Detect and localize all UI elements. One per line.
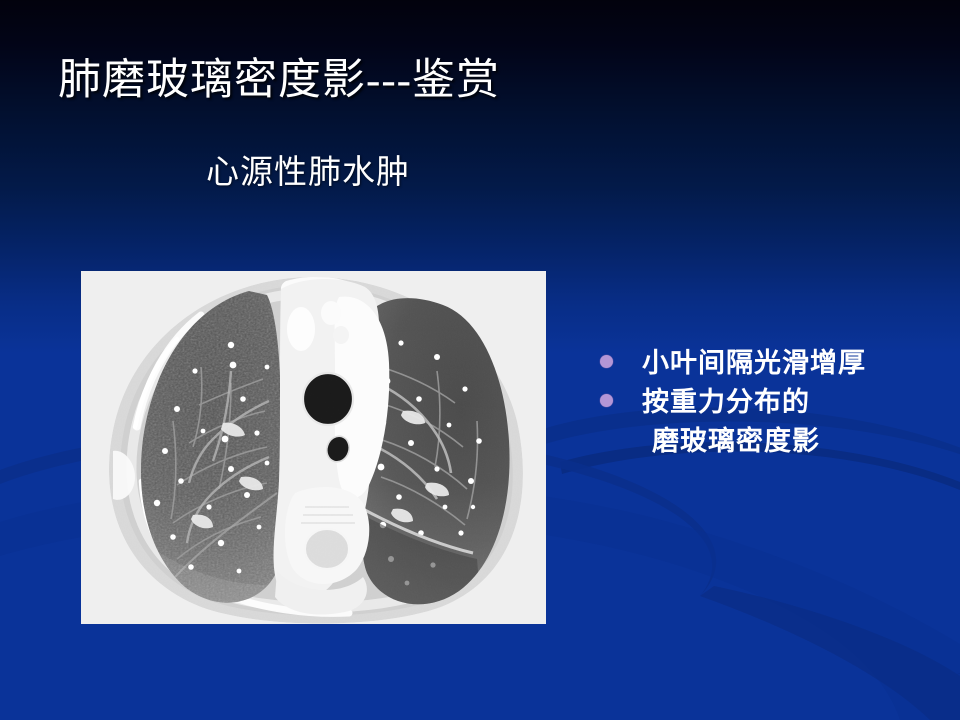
- list-item-label: 小叶间隔光滑增厚: [642, 344, 866, 382]
- slide-title: 肺磨玻璃密度影---鉴赏: [58, 58, 500, 103]
- list-item[interactable]: 按重力分布的: [600, 383, 950, 422]
- bullet-marker-icon: [600, 394, 613, 407]
- chest-ct-image: [81, 271, 546, 624]
- bullet-marker-icon: [600, 355, 613, 368]
- findings-list: 小叶间隔光滑增厚 按重力分布的 磨玻璃密度影: [600, 344, 950, 460]
- slide-subtitle: 心源性肺水肿: [206, 155, 410, 191]
- list-item[interactable]: 小叶间隔光滑增厚: [600, 344, 950, 383]
- list-item-continuation-label: 磨玻璃密度影: [652, 426, 820, 456]
- list-item-label: 按重力分布的: [642, 383, 810, 421]
- list-item-continuation: 磨玻璃密度影: [600, 422, 950, 460]
- presentation-slide: 肺磨玻璃密度影---鉴赏 心源性肺水肿: [0, 0, 960, 720]
